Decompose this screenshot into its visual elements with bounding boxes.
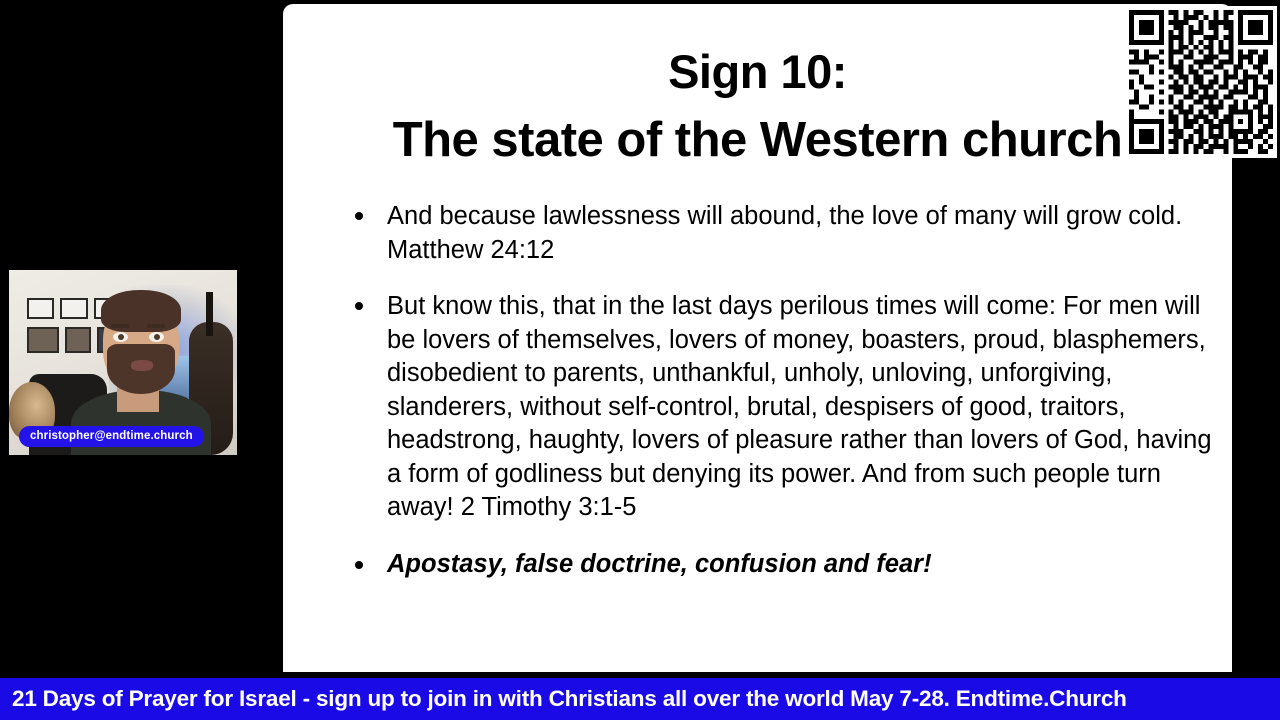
person-eyebrow (111, 324, 129, 328)
webcam-video-tile[interactable]: christopher@endtime.church (9, 270, 237, 455)
bullet-text: Apostasy, false doctrine, confusion and … (387, 550, 932, 578)
presentation-slide: Sign 10: The state of the Western church… (283, 4, 1232, 672)
slide-title: Sign 10: The state of the Western church (283, 38, 1232, 174)
person-eye (149, 332, 164, 342)
person-eyebrow (147, 324, 165, 328)
bullet-text: And because lawlessness will abound, the… (387, 202, 1182, 264)
list-item: But know this, that in the last days per… (343, 290, 1223, 525)
person-eye (113, 332, 128, 342)
slide-title-line-1: Sign 10: (668, 45, 847, 98)
qr-code-svg (1129, 10, 1273, 154)
wall-picture-frame (60, 298, 88, 319)
wall-picture-frame (27, 327, 59, 353)
bullet-dot-icon (355, 302, 363, 310)
list-item: Apostasy, false doctrine, confusion and … (343, 548, 1223, 582)
slide-bullet-list: And because lawlessness will abound, the… (343, 200, 1223, 604)
participant-name-badge: christopher@endtime.church (19, 426, 204, 447)
bullet-text: But know this, that in the last days per… (387, 292, 1212, 521)
list-item: And because lawlessness will abound, the… (343, 200, 1223, 267)
wall-picture-frame (27, 298, 54, 319)
banner-text: 21 Days of Prayer for Israel - sign up t… (0, 686, 1127, 712)
person-mouth (131, 360, 153, 371)
qr-code-icon[interactable] (1125, 6, 1277, 158)
announcement-banner: 21 Days of Prayer for Israel - sign up t… (0, 678, 1280, 720)
screen-stage: Sign 10: The state of the Western church… (0, 0, 1280, 720)
wall-picture-frame (65, 327, 91, 353)
slide-title-line-2: The state of the Western church (283, 106, 1232, 174)
bullet-dot-icon (355, 212, 363, 220)
bullet-dot-icon (355, 561, 363, 569)
